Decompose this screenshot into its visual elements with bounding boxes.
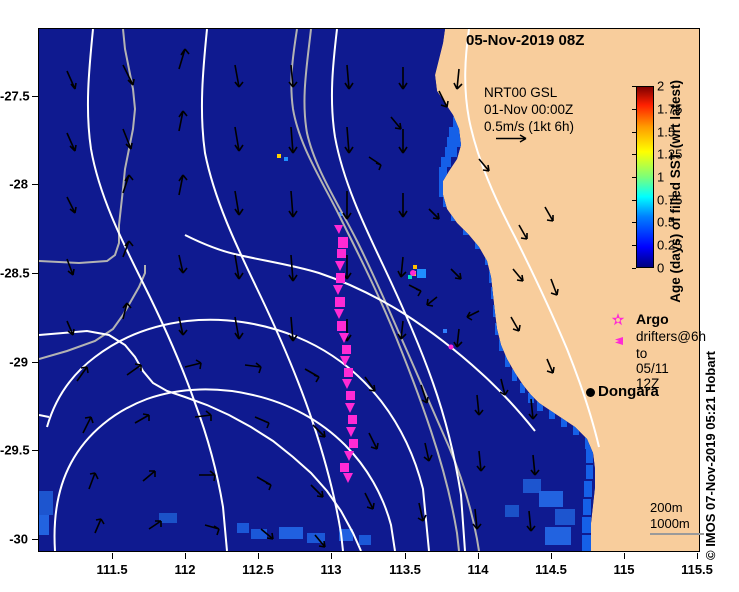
dongara-city-dot <box>586 388 595 397</box>
scale-rule <box>650 533 704 535</box>
xtick-mark <box>258 553 259 559</box>
xtick-mark <box>697 553 698 559</box>
colorbar-tick-label: 2 <box>657 79 664 94</box>
xtick-label: 112 <box>175 562 196 577</box>
map-canvas <box>39 29 699 551</box>
ytick-label: -29.5 <box>0 443 28 458</box>
xtick-mark <box>551 553 552 559</box>
model-product-label: NRT00 GSL <box>484 84 574 101</box>
xtick-label: 113.5 <box>389 562 421 577</box>
scale-label-1000m: 1000m <box>650 516 690 532</box>
colorbar-tick <box>632 177 636 178</box>
model-valid-time-label: 01-Nov 00:00Z <box>484 101 574 118</box>
colorbar-gradient <box>636 86 654 268</box>
xtick-label: 115 <box>614 562 635 577</box>
xtick-label: 114 <box>468 562 489 577</box>
drifter-arrow-marker-icon <box>612 335 624 347</box>
xtick-mark <box>405 553 406 559</box>
ytick-label: -29 <box>0 355 28 370</box>
xtick-label: 114.5 <box>535 562 567 577</box>
xtick-label: 111.5 <box>96 562 127 577</box>
argo-legend-label: Argo <box>636 311 669 327</box>
ytick-label: -30 <box>0 532 28 547</box>
colorbar-tick <box>632 222 636 223</box>
xtick-mark <box>624 553 625 559</box>
drifter-legend-label-line2: to 05/11 12Z <box>636 346 669 391</box>
colorbar-tick <box>632 109 636 110</box>
xtick-mark <box>331 553 332 559</box>
figure-root: 111.5 112 112.5 113 113.5 114 114.5 115 … <box>0 0 739 592</box>
ytick-mark <box>32 450 38 451</box>
drifter-legend-label-line1: drifters@6h <box>636 329 706 344</box>
colorbar-tick <box>632 200 636 201</box>
bathymetry-scale-legend: 200m 1000m <box>650 500 690 532</box>
colorbar-tick-label: 0 <box>657 261 664 276</box>
colorbar-tick <box>632 86 636 87</box>
colorbar-axis-label: Age (days) of filled SST (wrt latest) <box>668 80 683 303</box>
xtick-label: 112.5 <box>242 562 274 577</box>
colorbar-tick <box>632 132 636 133</box>
ytick-label: -27.5 <box>0 89 28 104</box>
xtick-mark <box>112 553 113 559</box>
xtick-label: 115.5 <box>681 562 713 577</box>
model-annotation-block: NRT00 GSL 01-Nov 00:00Z 0.5m/s (1kt 6h) <box>484 84 574 135</box>
colorbar-tick <box>632 245 636 246</box>
xtick-mark <box>478 553 479 559</box>
xtick-label: 113 <box>321 562 342 577</box>
argo-star-marker-icon <box>611 313 625 327</box>
xtick-mark <box>185 553 186 559</box>
ytick-mark <box>32 362 38 363</box>
colorbar-tick <box>632 154 636 155</box>
ytick-mark <box>32 96 38 97</box>
colorbar-tick-label: 1 <box>657 170 664 185</box>
colorbar-tick <box>632 268 636 269</box>
title-date-label: 05-Nov-2019 08Z <box>466 32 584 49</box>
copyright-label: © IMOS 07-Nov-2019 05:21 Hobart <box>703 351 718 560</box>
ytick-mark <box>32 273 38 274</box>
map-plot-area[interactable] <box>38 28 700 552</box>
ytick-label: -28 <box>0 177 28 192</box>
colorbar[interactable]: 0 0.25 0.5 0.75 1 1.25 1.5 1.75 2 <box>636 86 654 268</box>
ytick-mark <box>32 184 38 185</box>
scale-label-200m: 200m <box>650 500 690 516</box>
velocity-reference-arrow-icon <box>496 133 532 144</box>
ytick-mark <box>32 539 38 540</box>
ytick-label: -28.5 <box>0 266 28 281</box>
